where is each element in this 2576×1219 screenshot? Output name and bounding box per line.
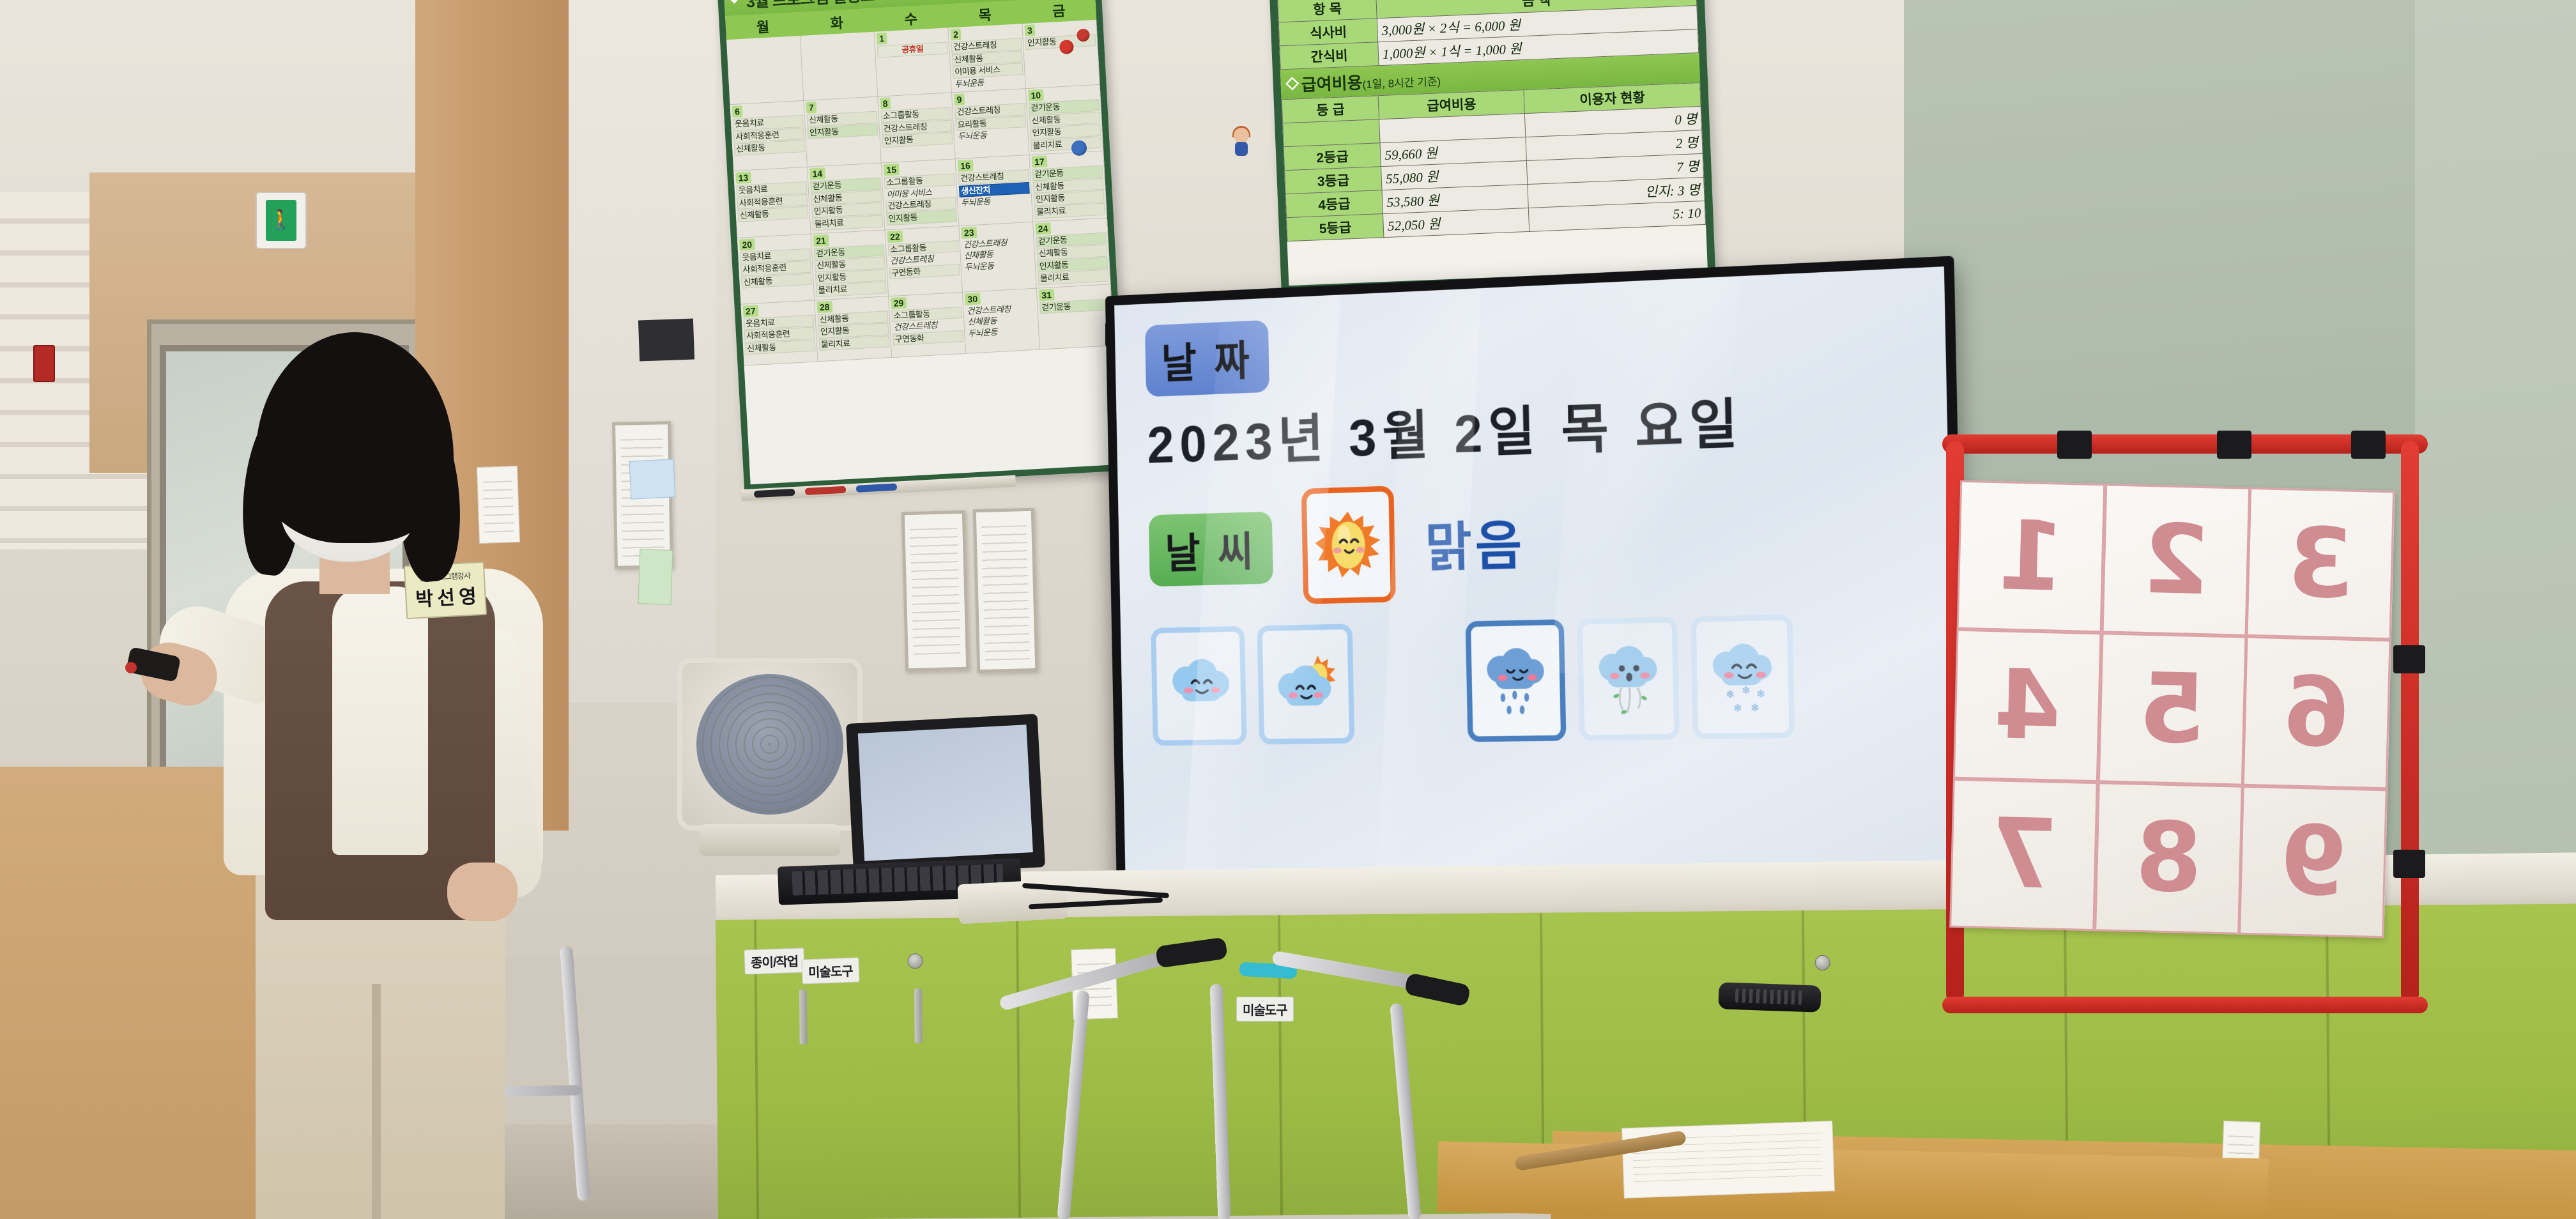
cabinet-handle[interactable] bbox=[799, 990, 808, 1045]
banner-number-cell: 8 bbox=[2094, 782, 2242, 935]
fan-base bbox=[700, 824, 840, 856]
schedule-cell: 9건강스트레칭요리활동두뇌운동 bbox=[952, 89, 1029, 159]
windy-icon bbox=[1591, 638, 1666, 720]
grade-name: 3등급 bbox=[1285, 167, 1383, 194]
cabinet-label-1: 미술도구 bbox=[801, 957, 859, 984]
grade-header-cell: 등 급 bbox=[1282, 96, 1379, 123]
schedule-cell: 13웃음치료사회적응훈련신체활동 bbox=[733, 167, 811, 238]
schedule-cell: 30건강스트레칭신체활동두뇌운동 bbox=[963, 288, 1040, 353]
banner-number-cell: 9 bbox=[2239, 785, 2388, 938]
schedule-cell: 16건강스트레칭생신잔치두뇌운동 bbox=[956, 155, 1033, 226]
schedule-day-number: 13 bbox=[735, 172, 751, 184]
svg-text:❄: ❄ bbox=[1751, 701, 1759, 714]
schedule-day-number: 14 bbox=[809, 168, 825, 180]
rack-clip bbox=[2217, 431, 2251, 459]
weather-option-snow[interactable]: ❄❄ ❄❄ ❄ bbox=[1690, 615, 1795, 739]
cable bbox=[1022, 883, 1169, 898]
schedule-day-number: 30 bbox=[965, 293, 981, 305]
grade-name: 4등급 bbox=[1285, 190, 1383, 218]
person-vest-opening bbox=[332, 586, 428, 855]
schedule-cell: 15소그룹활동이미용 서비스건강스트레칭인지활동 bbox=[882, 160, 959, 230]
schedule-cell: 23건강스트레칭신체활동두뇌운동 bbox=[959, 222, 1036, 292]
schedule-cell: 29소그룹활동건강스트레칭구연동화 bbox=[889, 293, 966, 358]
schedule-day-number: 20 bbox=[739, 238, 755, 250]
schedule-cell: 17걷기운동신체활동인지활동물리치료 bbox=[1029, 151, 1107, 222]
schedule-day-number: 24 bbox=[1035, 222, 1051, 234]
person-right-hand bbox=[447, 862, 517, 921]
weather-value: 맑음 bbox=[1424, 502, 1526, 581]
schedule-cell: 31걷기운동 bbox=[1037, 284, 1114, 349]
snow-icon: ❄❄ ❄❄ ❄ bbox=[1705, 636, 1781, 719]
schedule-cell: 24걷기운동신체활동인지활동물리치료 bbox=[1033, 218, 1110, 288]
schedule-day-number: 7 bbox=[806, 102, 816, 114]
schedule-day-number: 28 bbox=[816, 301, 832, 313]
selected-weather-card[interactable] bbox=[1301, 486, 1396, 604]
fee-item-name: 간식비 bbox=[1280, 42, 1379, 70]
grade-name: 5등급 bbox=[1287, 214, 1384, 241]
schedule-cell bbox=[726, 36, 804, 105]
banner-number-cell: 4 bbox=[1953, 629, 2101, 782]
cloudy-icon bbox=[1164, 652, 1233, 720]
wall-speaker-panel bbox=[638, 319, 694, 362]
tv-remote-buttons bbox=[1735, 988, 1806, 1005]
schedule-activity: 걷기운동 bbox=[1039, 298, 1110, 314]
schedule-day-0: 월 bbox=[725, 12, 801, 40]
date-chip-label: 날 짜 bbox=[1145, 320, 1269, 397]
schedule-day-number: 8 bbox=[880, 98, 891, 110]
weather-chip-label: 날 씨 bbox=[1149, 511, 1273, 586]
badge-name: 박 선 영 bbox=[415, 580, 477, 611]
grade-name: 2등급 bbox=[1284, 143, 1381, 171]
schedule-cell: 20웃음치료사회적응훈련신체활동 bbox=[737, 234, 815, 304]
schedule-cell: 28신체활동인지활동물리치료 bbox=[815, 296, 892, 362]
walker-leg bbox=[1057, 990, 1089, 1219]
schedule-day-number: 9 bbox=[954, 94, 965, 106]
schedule-activity: 공휴일 bbox=[877, 42, 948, 57]
walker-center bbox=[997, 946, 1444, 1219]
schedule-day-1: 화 bbox=[799, 8, 875, 36]
banner-number-cell: 5 bbox=[2098, 633, 2246, 786]
schedule-day-number: 31 bbox=[1039, 289, 1055, 301]
person-pants-seam bbox=[372, 984, 381, 1219]
schedule-cell: 7신체활동인지활동 bbox=[804, 97, 881, 167]
schedule-cell: 2건강스트레칭신체활동이미용 서비스두뇌운동 bbox=[949, 24, 1026, 93]
svg-text:❄: ❄ bbox=[1756, 687, 1765, 700]
weather-option-windy[interactable] bbox=[1577, 617, 1680, 740]
banner-number-cell: 7 bbox=[1950, 778, 2098, 931]
presenter-remote-button[interactable] bbox=[125, 662, 137, 673]
cabinet-lock-icon[interactable] bbox=[907, 953, 923, 969]
covered-fee-table: 등 급급여비용이용자 현황 0 명2등급59,660 원2 명3등급55,080… bbox=[1282, 82, 1706, 241]
date-row: 날 짜 2023년 3월 2일 목 요일 bbox=[1145, 291, 1914, 478]
schedule-day-number: 29 bbox=[891, 296, 907, 309]
walker-leg bbox=[1390, 1003, 1422, 1219]
schedule-day-number: 6 bbox=[732, 105, 743, 118]
schedule-cell: 3인지활동 bbox=[1022, 20, 1100, 89]
poster-text-lines bbox=[620, 438, 664, 559]
schedule-day-number: 1 bbox=[877, 33, 887, 45]
rain-icon bbox=[1480, 640, 1552, 722]
fire-alarm-icon bbox=[33, 345, 55, 382]
rack-clip bbox=[2393, 645, 2425, 673]
fee-information-board: 비급여 대상 및 금액 항 목금 액 식사비3,000원 × 2식 = 6,00… bbox=[1268, 0, 1715, 294]
sticky-note-blue bbox=[629, 459, 675, 500]
schedule-day-number: 23 bbox=[961, 226, 977, 238]
presentation-slide: 날 짜 2023년 3월 2일 목 요일 날 씨 bbox=[1114, 266, 1958, 954]
marker-blue bbox=[856, 483, 897, 492]
weather-option-partly-cloudy[interactable] bbox=[1257, 624, 1354, 744]
schedule-cell: 6웃음치료사회적응훈련신체활동 bbox=[730, 101, 808, 171]
svg-text:❄: ❄ bbox=[1742, 684, 1751, 697]
room-photo-scene: 🚶 3월 프로그램 일정표 월화수목금 1공휴일2건강스트레칭신체활동이미용 서… bbox=[0, 0, 2576, 1219]
certificate-text-lines bbox=[981, 525, 1030, 663]
schedule-cell: 1공휴일 bbox=[875, 28, 952, 97]
framed-certificate-right bbox=[973, 508, 1039, 673]
sticky-note-green bbox=[638, 549, 673, 605]
grade-cost: 52,050 원 bbox=[1383, 208, 1529, 237]
tv-screen: 날 짜 2023년 3월 2일 목 요일 날 씨 bbox=[1114, 266, 1958, 954]
schedule-day-number: 21 bbox=[813, 234, 829, 247]
rack-bar-bottom bbox=[1942, 997, 2428, 1013]
banner-number-cell: 1 bbox=[1957, 480, 2105, 633]
schedule-day-number: 22 bbox=[887, 230, 903, 242]
weather-option-rain[interactable] bbox=[1466, 619, 1567, 742]
cable-bundle bbox=[1022, 875, 1182, 920]
laptop[interactable] bbox=[846, 714, 1045, 877]
banner-number-cell: 2 bbox=[2102, 484, 2250, 636]
fan-grill-icon bbox=[696, 674, 843, 815]
person-hair bbox=[256, 332, 454, 543]
marker-black bbox=[754, 489, 795, 498]
exit-sign: 🚶 bbox=[256, 192, 307, 249]
fee-item-name: 식사비 bbox=[1278, 19, 1378, 46]
laptop-screen bbox=[858, 724, 1033, 861]
schedule-day-number: 10 bbox=[1028, 89, 1044, 102]
rack-clip bbox=[2351, 431, 2386, 459]
banner-number-cell: 3 bbox=[2246, 487, 2395, 640]
schedule-cell: 21걷기운동신체활동인지활동물리치료 bbox=[811, 230, 889, 300]
exit-running-man-icon: 🚶 bbox=[266, 200, 296, 241]
decorative-doll-magnet bbox=[1230, 128, 1253, 160]
partly-cloudy-icon bbox=[1271, 650, 1341, 718]
rack-clip bbox=[2393, 850, 2425, 878]
schedule-cell: 8소그룹활동건강스트레칭인지활동 bbox=[878, 93, 955, 164]
cable bbox=[1029, 898, 1163, 910]
schedule-cell: 10걷기운동신체활동인지활동물리치료 bbox=[1026, 85, 1103, 155]
cabinet-handle[interactable] bbox=[914, 988, 923, 1043]
marker-red bbox=[805, 486, 846, 495]
schedule-cell: 14걷기운동신체활동인지활동물리치료 bbox=[808, 164, 885, 234]
instructor-person: 실버프로그램강사 박 선 영 bbox=[147, 332, 594, 1219]
cabinet-lock-icon[interactable] bbox=[1815, 955, 1830, 970]
weather-option-row: ❄❄ ❄❄ ❄ bbox=[1151, 611, 1920, 746]
svg-text:❄: ❄ bbox=[1733, 702, 1742, 715]
option-row-spacer bbox=[1365, 622, 1453, 624]
schedule-cell bbox=[801, 32, 878, 101]
schedule-day-2: 수 bbox=[873, 4, 949, 32]
framed-certificate-left bbox=[901, 510, 970, 672]
cabinet-label-0: 종이/작업 bbox=[744, 947, 804, 974]
sun-icon bbox=[1313, 507, 1384, 582]
grade-name bbox=[1283, 119, 1381, 147]
schedule-day-number: 16 bbox=[958, 160, 974, 172]
rack-bar-right bbox=[2401, 441, 2419, 1003]
schedule-day-number: 2 bbox=[951, 28, 962, 40]
weather-option-cloudy[interactable] bbox=[1151, 626, 1246, 746]
schedule-day-number: 15 bbox=[884, 164, 900, 176]
number-grid-banner: 123456789 bbox=[1950, 480, 2395, 938]
schedule-day-number: 27 bbox=[743, 305, 759, 317]
banner-number-cell: 6 bbox=[2242, 636, 2391, 789]
schedule-day-3: 목 bbox=[947, 0, 1023, 27]
certificate-text-lines bbox=[910, 528, 960, 662]
schedule-cell: 27웃음치료사회적응훈련신체활동 bbox=[740, 300, 818, 365]
walker-leg bbox=[1210, 984, 1231, 1219]
monthly-schedule-board: 3월 프로그램 일정표 월화수목금 1공휴일2건강스트레칭신체활동이미용 서비스… bbox=[717, 0, 1127, 491]
schedule-calendar-grid: 1공휴일2건강스트레칭신체활동이미용 서비스두뇌운동3인지활동6웃음치료사회적응… bbox=[726, 20, 1114, 365]
svg-text:❄: ❄ bbox=[1726, 688, 1735, 701]
schedule-cell: 22소그룹활동건강스트레칭구연동화 bbox=[885, 226, 962, 296]
rack-clip bbox=[2057, 431, 2092, 459]
schedule-day-number: 3 bbox=[1024, 24, 1035, 36]
weather-row: 날 씨 bbox=[1148, 469, 1917, 608]
schedule-day-number: 17 bbox=[1032, 156, 1048, 168]
